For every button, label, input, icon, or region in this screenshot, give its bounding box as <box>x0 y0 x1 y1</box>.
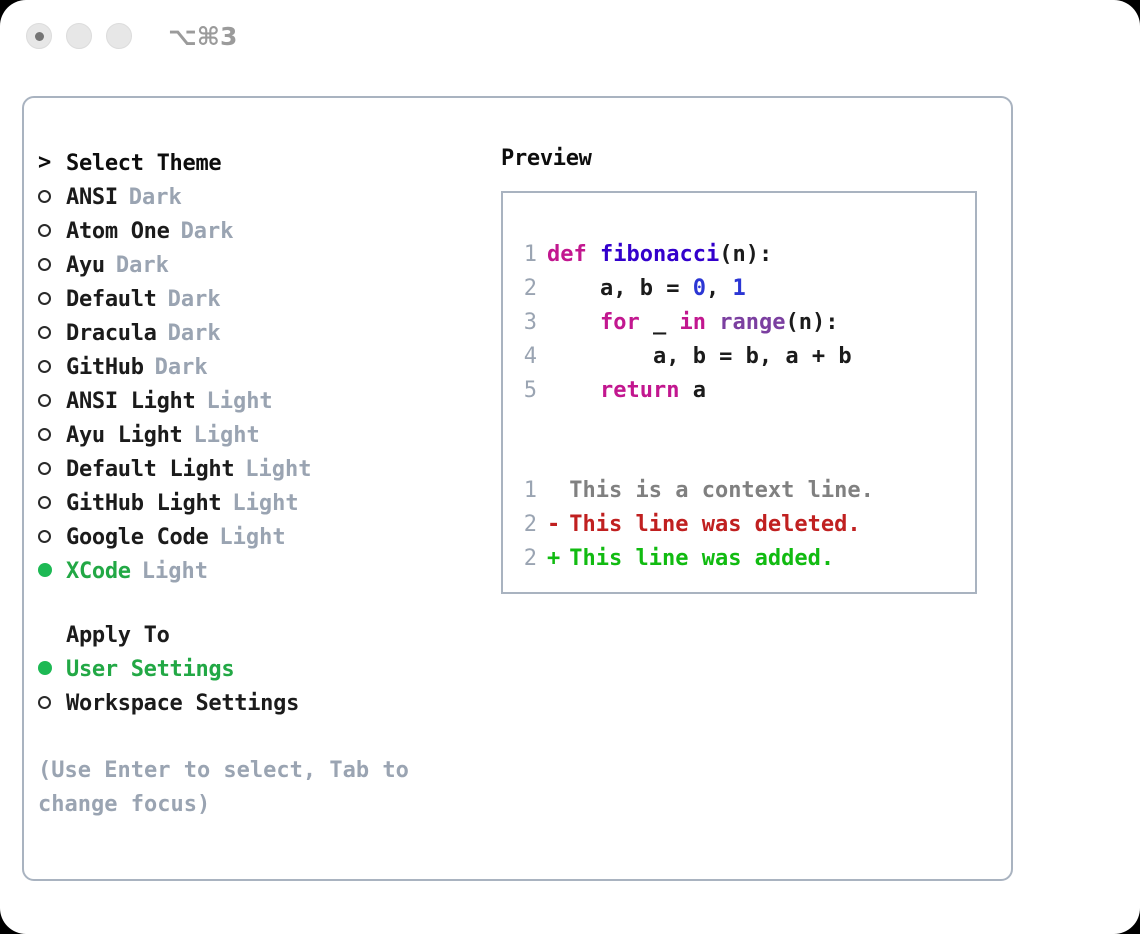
code-line: 5 return a <box>503 373 975 407</box>
theme-list-panel: > Select Theme ANSI Dark Atom One Dark A… <box>38 146 478 822</box>
diff-line-context: 1 This is a context line. <box>503 473 975 507</box>
theme-label: XCode <box>66 559 131 584</box>
apply-to-heading: Apply To <box>38 618 478 652</box>
theme-label: Ayu <box>66 253 105 278</box>
window-dot-active[interactable] <box>26 23 52 49</box>
code-line-number: 2 <box>503 276 547 301</box>
diff-line-number: 2 <box>503 512 547 537</box>
preview-title: Preview <box>501 146 1001 171</box>
theme-list-item-ayu-dark[interactable]: Ayu Dark <box>38 248 478 282</box>
diff-line-number: 1 <box>503 478 547 503</box>
code-line-content: for _ in range(n): <box>547 310 838 335</box>
radio-selected-icon[interactable] <box>38 658 66 680</box>
theme-label: Atom One <box>66 219 170 244</box>
radio-unselected-icon[interactable] <box>38 356 66 378</box>
code-line-number: 5 <box>503 378 547 403</box>
radio-unselected-icon[interactable] <box>38 424 66 446</box>
theme-category: Light <box>245 457 311 482</box>
code-token-builtin: range <box>719 310 785 335</box>
select-theme-heading: > Select Theme <box>38 146 478 180</box>
theme-label: ANSI <box>66 185 118 210</box>
list-spacer <box>38 588 478 618</box>
preview-panel: Preview 1 def fibonacci(n): 2 a, b = 0, … <box>501 146 1001 594</box>
radio-unselected-icon[interactable] <box>38 322 66 344</box>
code-token-keyword: in <box>679 310 706 335</box>
code-token-plain <box>547 310 600 335</box>
radio-selected-icon[interactable] <box>38 560 66 582</box>
code-line-content: def fibonacci(n): <box>547 242 772 267</box>
radio-unselected-icon[interactable] <box>38 220 66 242</box>
code-token-keyword: return <box>600 378 679 403</box>
code-line-number: 4 <box>503 344 547 369</box>
diff-line-text: This line was added. <box>560 546 834 571</box>
theme-label: GitHub <box>66 355 144 380</box>
theme-category: Dark <box>168 287 221 312</box>
code-token-plain: _ <box>640 310 680 335</box>
theme-label: GitHub Light <box>66 491 221 516</box>
theme-list-item-github-light[interactable]: GitHub Light Light <box>38 486 478 520</box>
code-line-content: a, b = 0, 1 <box>547 276 746 301</box>
theme-category: Dark <box>129 185 182 210</box>
select-theme-heading-label: Select Theme <box>66 151 221 176</box>
code-token-number: 1 <box>732 276 745 301</box>
code-line: 3 for _ in range(n): <box>503 305 975 339</box>
radio-unselected-icon[interactable] <box>38 458 66 480</box>
theme-list-item-ansi-dark[interactable]: ANSI Dark <box>38 180 478 214</box>
theme-category: Light <box>142 559 208 584</box>
diff-line-sign <box>547 478 560 503</box>
window-dot-active-inner <box>35 32 44 41</box>
theme-label: Ayu Light <box>66 423 183 448</box>
theme-label: Default Light <box>66 457 234 482</box>
theme-category: Light <box>232 491 298 516</box>
keyboard-hint-text: (Use Enter to select, Tab to change focu… <box>38 754 438 822</box>
theme-list-item-default-light[interactable]: Default Light Light <box>38 452 478 486</box>
apply-to-option-label: User Settings <box>66 657 234 682</box>
diff-line-added: 2 + This line was added. <box>503 541 975 575</box>
theme-category: Light <box>194 423 260 448</box>
code-blank-line <box>503 407 975 441</box>
code-token-plain <box>547 378 600 403</box>
code-token-plain: a <box>679 378 706 403</box>
code-line: 4 a, b = b, a + b <box>503 339 975 373</box>
diff-line-sign: + <box>547 546 560 571</box>
theme-list-item-ayu-light[interactable]: Ayu Light Light <box>38 418 478 452</box>
code-token-keyword: for <box>600 310 640 335</box>
code-line: 1 def fibonacci(n): <box>503 237 975 271</box>
theme-category: Light <box>206 389 272 414</box>
diff-line-number: 2 <box>503 546 547 571</box>
theme-category: Light <box>219 525 285 550</box>
radio-unselected-icon[interactable] <box>38 492 66 514</box>
window-dot-3[interactable] <box>106 23 132 49</box>
radio-unselected-icon[interactable] <box>38 186 66 208</box>
theme-list-item-default-dark[interactable]: Default Dark <box>38 282 478 316</box>
code-line-content: a, b = b, a + b <box>547 344 852 369</box>
theme-list-item-github-dark[interactable]: GitHub Dark <box>38 350 478 384</box>
theme-label: Default <box>66 287 157 312</box>
window-dot-2[interactable] <box>66 23 92 49</box>
caret-icon: > <box>38 152 66 174</box>
theme-category: Dark <box>155 355 208 380</box>
code-token-plain: (n): <box>719 242 772 267</box>
code-blank-line <box>503 441 975 473</box>
apply-to-option-user-settings[interactable]: User Settings <box>38 652 478 686</box>
theme-list-item-atom-one-dark[interactable]: Atom One Dark <box>38 214 478 248</box>
code-line-number: 3 <box>503 310 547 335</box>
preview-code-box: 1 def fibonacci(n): 2 a, b = 0, 1 3 for … <box>501 191 977 594</box>
diff-line-sign: - <box>547 512 560 537</box>
title-bar: ⌥⌘3 <box>0 0 1140 76</box>
code-line-number: 1 <box>503 242 547 267</box>
theme-category: Dark <box>168 321 221 346</box>
code-token-plain: (n): <box>785 310 838 335</box>
code-token-plain: a, b = <box>547 276 693 301</box>
code-line: 2 a, b = 0, 1 <box>503 271 975 305</box>
app-window: ⌥⌘3 > Select Theme ANSI Dark Atom One Da… <box>0 0 1140 934</box>
theme-label: Google Code <box>66 525 208 550</box>
theme-list-item-dracula-dark[interactable]: Dracula Dark <box>38 316 478 350</box>
code-token-function: fibonacci <box>600 242 719 267</box>
theme-list-item-ansi-light[interactable]: ANSI Light Light <box>38 384 478 418</box>
code-token-number: 0 <box>693 276 706 301</box>
diff-line-text: This is a context line. <box>560 478 874 503</box>
radio-unselected-icon[interactable] <box>38 692 66 714</box>
theme-label: Dracula <box>66 321 157 346</box>
code-token-plain: a, b = b, a + b <box>547 344 852 369</box>
diff-line-text: This line was deleted. <box>560 512 860 537</box>
theme-list-item-google-code-light[interactable]: Google Code Light <box>38 520 478 554</box>
keyboard-shortcut-label: ⌥⌘3 <box>168 22 237 51</box>
theme-picker-window: > Select Theme ANSI Dark Atom One Dark A… <box>22 96 1013 881</box>
code-token-plain: , <box>706 276 733 301</box>
theme-category: Dark <box>181 219 234 244</box>
radio-unselected-icon[interactable] <box>38 288 66 310</box>
theme-label: ANSI Light <box>66 389 195 414</box>
radio-unselected-icon[interactable] <box>38 390 66 412</box>
code-token-keyword: def <box>547 242 600 267</box>
diff-line-deleted: 2 - This line was deleted. <box>503 507 975 541</box>
theme-category: Dark <box>116 253 169 278</box>
code-token-plain <box>706 310 719 335</box>
code-line-content: return a <box>547 378 706 403</box>
radio-unselected-icon[interactable] <box>38 526 66 548</box>
apply-to-option-workspace-settings[interactable]: Workspace Settings <box>38 686 478 720</box>
apply-to-heading-label: Apply To <box>66 623 170 648</box>
window-controls <box>26 23 132 49</box>
apply-to-option-label: Workspace Settings <box>66 691 299 716</box>
radio-unselected-icon[interactable] <box>38 254 66 276</box>
theme-list-item-xcode-light[interactable]: XCode Light <box>38 554 478 588</box>
